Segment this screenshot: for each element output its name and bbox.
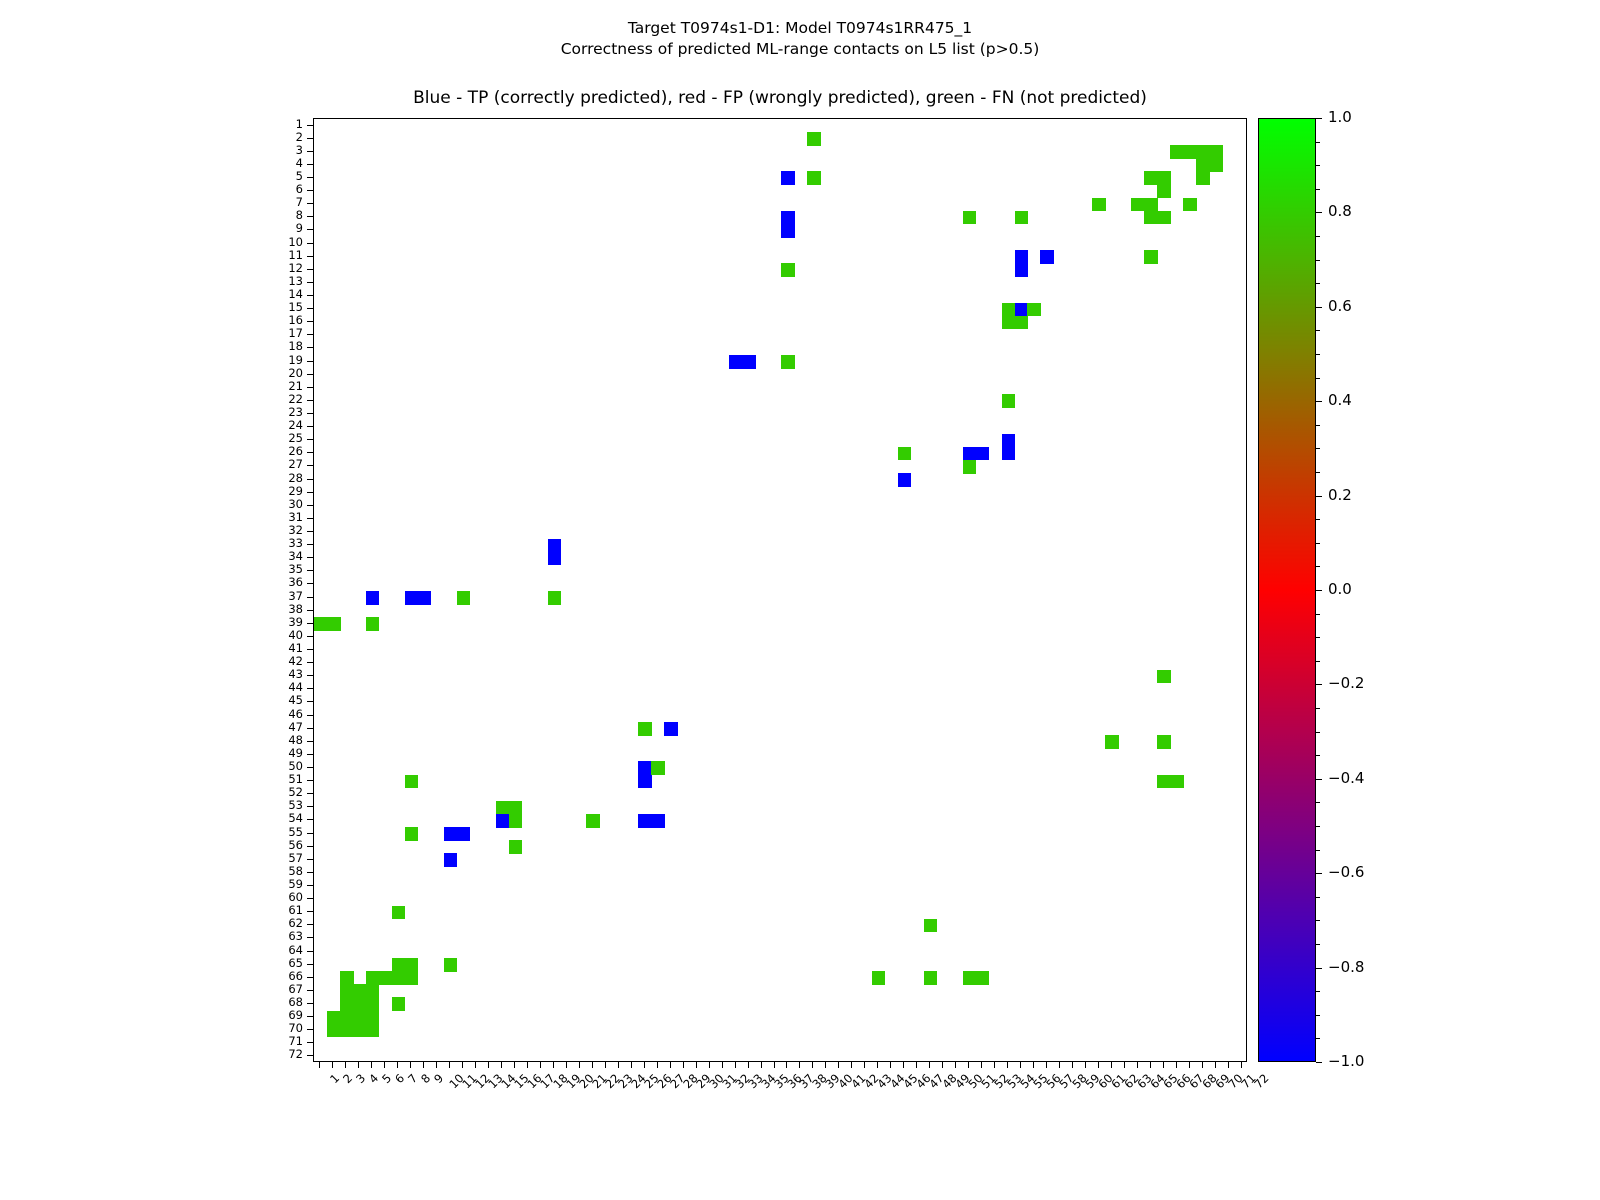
x-axis-tick-mark xyxy=(812,1062,813,1068)
heatmap-cell xyxy=(1015,303,1029,317)
y-axis-tick-label: 38 xyxy=(263,604,303,615)
heatmap-cell xyxy=(898,473,912,487)
x-axis-tick-label: 9 xyxy=(431,1071,446,1086)
y-axis-tick-label: 20 xyxy=(263,368,303,379)
heatmap-cell xyxy=(976,971,990,985)
colorbar-minor-tick xyxy=(1316,897,1320,898)
y-axis-tick-mark xyxy=(307,780,313,781)
heatmap-cell xyxy=(1002,316,1016,330)
y-axis-tick-label: 8 xyxy=(263,210,303,221)
colorbar-tick-mark xyxy=(1316,307,1322,308)
heatmap-cell xyxy=(405,775,419,789)
heatmap-cell xyxy=(392,997,406,1011)
colorbar-tick-label: 0.8 xyxy=(1328,205,1352,217)
y-axis-tick-mark xyxy=(307,990,313,991)
y-axis-tick-mark xyxy=(307,846,313,847)
x-axis-tick-mark xyxy=(332,1062,333,1068)
heatmap-cell xyxy=(1015,250,1029,264)
y-axis-tick-mark xyxy=(307,662,313,663)
heatmap-cell xyxy=(327,617,341,631)
heatmap-cell xyxy=(366,591,380,605)
heatmap-cell xyxy=(353,1024,367,1038)
x-axis-tick-mark xyxy=(397,1062,398,1068)
colorbar-minor-tick xyxy=(1316,826,1320,827)
x-axis-tick-mark xyxy=(423,1062,424,1068)
x-axis-tick-label: 8 xyxy=(418,1071,433,1086)
y-axis-tick-mark xyxy=(307,413,313,414)
y-axis-tick-mark xyxy=(307,125,313,126)
heatmap-cell xyxy=(418,591,432,605)
colorbar-minor-tick xyxy=(1316,165,1320,166)
heatmap-cell xyxy=(1157,735,1171,749)
colorbar[interactable] xyxy=(1258,118,1316,1062)
x-axis-tick-mark xyxy=(786,1062,787,1068)
x-axis-tick-mark xyxy=(579,1062,580,1068)
y-axis-tick-label: 40 xyxy=(263,630,303,641)
y-axis-tick-mark xyxy=(307,256,313,257)
colorbar-minor-tick xyxy=(1316,944,1320,945)
heatmap-cell xyxy=(366,1011,380,1025)
heatmap-cell xyxy=(651,814,665,828)
y-axis-tick-label: 17 xyxy=(263,328,303,339)
y-axis-tick-mark xyxy=(307,911,313,912)
heatmap-cell xyxy=(509,814,523,828)
y-axis-tick-label: 65 xyxy=(263,958,303,969)
heatmap-cell xyxy=(457,591,471,605)
y-axis-tick-label: 32 xyxy=(263,525,303,536)
y-axis-tick-label: 31 xyxy=(263,512,303,523)
x-axis-tick-mark xyxy=(683,1062,684,1068)
y-axis-tick-label: 23 xyxy=(263,407,303,418)
y-axis-tick-label: 44 xyxy=(263,682,303,693)
y-axis-tick-mark xyxy=(307,308,313,309)
y-axis-tick-mark xyxy=(307,505,313,506)
y-axis-tick-label: 69 xyxy=(263,1010,303,1021)
x-axis-tick-label: 2 xyxy=(341,1071,356,1086)
heatmap-cell xyxy=(1015,263,1029,277)
y-axis-tick-mark xyxy=(307,898,313,899)
x-axis-tick-mark xyxy=(488,1062,489,1068)
y-axis-tick-label: 54 xyxy=(263,813,303,824)
x-axis-tick-label: 7 xyxy=(405,1071,420,1086)
x-axis-tick-mark xyxy=(722,1062,723,1068)
y-axis-tick-label: 42 xyxy=(263,656,303,667)
x-axis-tick-mark xyxy=(981,1062,982,1068)
heatmap-cell xyxy=(638,722,652,736)
y-axis-tick-mark xyxy=(307,1042,313,1043)
x-axis-tick-mark xyxy=(371,1062,372,1068)
colorbar-tick-label: 0.0 xyxy=(1328,583,1352,595)
colorbar-tick-mark xyxy=(1316,118,1322,119)
axes-title: Blue - TP (correctly predicted), red - F… xyxy=(313,88,1247,108)
x-axis-tick-mark xyxy=(864,1062,865,1068)
colorbar-tick-label: −1.0 xyxy=(1328,1055,1364,1067)
heatmap-cell xyxy=(457,827,471,841)
y-axis-tick-mark xyxy=(307,924,313,925)
colorbar-tick-mark xyxy=(1316,212,1322,213)
heatmap-cell xyxy=(924,971,938,985)
colorbar-minor-tick xyxy=(1316,661,1320,662)
colorbar-tick-mark xyxy=(1316,590,1322,591)
heatmap-cell xyxy=(1144,198,1158,212)
y-axis-tick-mark xyxy=(307,793,313,794)
heatmap-cell xyxy=(353,984,367,998)
y-axis-tick-mark xyxy=(307,452,313,453)
heatmap-cell xyxy=(405,591,419,605)
x-axis-tick-mark xyxy=(501,1062,502,1068)
x-axis-tick-mark xyxy=(553,1062,554,1068)
y-axis-tick-label: 37 xyxy=(263,591,303,602)
y-axis-tick-mark xyxy=(307,387,313,388)
x-axis-tick-mark xyxy=(1241,1062,1242,1068)
colorbar-minor-tick xyxy=(1316,1038,1320,1039)
y-axis-tick-mark xyxy=(307,269,313,270)
x-axis-tick-label: 6 xyxy=(392,1071,407,1086)
y-axis-tick-mark xyxy=(307,295,313,296)
heatmap-cell xyxy=(340,971,354,985)
x-axis-tick-mark xyxy=(1085,1062,1086,1068)
y-axis-tick-mark xyxy=(307,1016,313,1017)
colorbar-tick-mark xyxy=(1316,968,1322,969)
heatmap-cell xyxy=(353,1011,367,1025)
colorbar-minor-tick xyxy=(1316,850,1320,851)
colorbar-minor-tick xyxy=(1316,354,1320,355)
y-axis-tick-label: 70 xyxy=(263,1023,303,1034)
y-axis-tick-mark xyxy=(307,597,313,598)
heatmap-cell xyxy=(1015,211,1029,225)
x-axis-tick-mark xyxy=(657,1062,658,1068)
x-axis-tick-mark xyxy=(1189,1062,1190,1068)
y-axis-tick-label: 72 xyxy=(263,1049,303,1060)
y-axis-tick-mark xyxy=(307,216,313,217)
colorbar-minor-tick xyxy=(1316,378,1320,379)
heatmap-cell xyxy=(366,997,380,1011)
x-axis-tick-mark xyxy=(709,1062,710,1068)
heatmap-cell xyxy=(405,827,419,841)
heatmap-cell xyxy=(781,224,795,238)
y-axis-tick-mark xyxy=(307,623,313,624)
y-axis-tick-label: 56 xyxy=(263,840,303,851)
x-axis-tick-mark xyxy=(1215,1062,1216,1068)
y-axis-tick-mark xyxy=(307,767,313,768)
x-axis-tick-mark xyxy=(994,1062,995,1068)
colorbar-tick-label: −0.8 xyxy=(1328,961,1364,973)
y-axis-tick-label: 68 xyxy=(263,997,303,1008)
y-axis-tick-mark xyxy=(307,439,313,440)
x-axis-tick-mark xyxy=(1163,1062,1164,1068)
x-axis-tick-mark xyxy=(1137,1062,1138,1068)
y-axis-tick-label: 55 xyxy=(263,827,303,838)
y-axis-tick-mark xyxy=(307,190,313,191)
colorbar-minor-tick xyxy=(1316,543,1320,544)
x-axis-tick-label: 72 xyxy=(1251,1071,1271,1091)
colorbar-minor-tick xyxy=(1316,260,1320,261)
colorbar-minor-tick xyxy=(1316,496,1320,497)
colorbar-minor-tick xyxy=(1316,637,1320,638)
y-axis-tick-mark xyxy=(307,688,313,689)
x-axis-tick-mark xyxy=(903,1062,904,1068)
heatmap-cell xyxy=(729,355,743,369)
colorbar-minor-tick xyxy=(1316,330,1320,331)
x-axis-tick-mark xyxy=(799,1062,800,1068)
x-axis-tick-mark xyxy=(527,1062,528,1068)
heatmap-cell xyxy=(1105,735,1119,749)
x-axis-tick-mark xyxy=(449,1062,450,1068)
x-axis-tick-mark xyxy=(1033,1062,1034,1068)
y-axis-tick-mark xyxy=(307,610,313,611)
y-axis-tick-mark xyxy=(307,859,313,860)
heatmap-cell xyxy=(963,447,977,461)
y-axis-tick-label: 52 xyxy=(263,787,303,798)
heatmap-cell xyxy=(586,814,600,828)
y-axis-tick-label: 7 xyxy=(263,197,303,208)
x-axis-tick-mark xyxy=(540,1062,541,1068)
y-axis-tick-mark xyxy=(307,675,313,676)
heatmap-cell xyxy=(340,1024,354,1038)
y-axis-tick-label: 43 xyxy=(263,669,303,680)
heatmap-cell xyxy=(327,1011,341,1025)
y-axis-tick-label: 21 xyxy=(263,381,303,392)
heatmap-cell xyxy=(898,447,912,461)
colorbar-minor-tick xyxy=(1316,519,1320,520)
x-axis-tick-mark xyxy=(838,1062,839,1068)
figure-suptitle: Target T0974s1-D1: Model T0974s1RR475_1C… xyxy=(0,18,1600,60)
heatmap-cell xyxy=(548,552,562,566)
colorbar-tick-label: 0.4 xyxy=(1328,394,1352,406)
heatmap-cell xyxy=(781,263,795,277)
x-axis-tick-mark xyxy=(761,1062,762,1068)
heatmap-cell xyxy=(1196,158,1210,172)
heatmap-cell xyxy=(638,761,652,775)
heatmap-cell xyxy=(1209,145,1223,159)
y-axis-tick-mark xyxy=(307,833,313,834)
x-axis-tick-mark xyxy=(1228,1062,1229,1068)
heatmap-cell xyxy=(872,971,886,985)
x-axis-tick-mark xyxy=(1111,1062,1112,1068)
heatmap-cell xyxy=(1196,145,1210,159)
heatmap-cell xyxy=(405,958,419,972)
x-axis-tick-mark xyxy=(1072,1062,1073,1068)
x-axis-tick-mark xyxy=(774,1062,775,1068)
y-axis-tick-label: 9 xyxy=(263,223,303,234)
colorbar-minor-tick xyxy=(1316,566,1320,567)
heatmap-cell xyxy=(963,460,977,474)
y-axis-tick-label: 29 xyxy=(263,486,303,497)
y-axis-tick-mark xyxy=(307,570,313,571)
heatmap-cell xyxy=(340,1011,354,1025)
heatmap-cell xyxy=(444,958,458,972)
y-axis-tick-label: 5 xyxy=(263,171,303,182)
y-axis-tick-label: 6 xyxy=(263,184,303,195)
heatmap-cell xyxy=(1092,198,1106,212)
x-axis-tick-label: 1 xyxy=(328,1071,343,1086)
heatmap-cell xyxy=(366,971,380,985)
x-axis-tick-label: 4 xyxy=(367,1071,382,1086)
y-axis-tick-label: 27 xyxy=(263,459,303,470)
colorbar-tick-mark xyxy=(1316,1062,1322,1063)
heatmap-cell xyxy=(340,984,354,998)
heatmap-cell xyxy=(366,984,380,998)
y-axis-tick-mark xyxy=(307,1003,313,1004)
colorbar-minor-tick xyxy=(1316,802,1320,803)
y-axis-tick-label: 58 xyxy=(263,866,303,877)
heatmap-cell xyxy=(963,211,977,225)
heatmap-cell xyxy=(366,617,380,631)
y-axis-tick-mark xyxy=(307,518,313,519)
y-axis-tick-label: 1 xyxy=(263,119,303,130)
y-axis-tick-label: 18 xyxy=(263,341,303,352)
colorbar-minor-tick xyxy=(1316,991,1320,992)
heatmap-cell xyxy=(1015,316,1029,330)
y-axis-tick-label: 47 xyxy=(263,722,303,733)
y-axis-tick-mark xyxy=(307,649,313,650)
heatmap-cell xyxy=(1131,198,1145,212)
heatmap-cell xyxy=(638,814,652,828)
colorbar-tick-label: −0.6 xyxy=(1328,866,1364,878)
colorbar-minor-tick xyxy=(1316,1015,1320,1016)
heatmap-cell xyxy=(1170,145,1184,159)
y-axis-tick-label: 35 xyxy=(263,564,303,575)
heatmap-cell xyxy=(1002,303,1016,317)
y-axis-tick-label: 62 xyxy=(263,918,303,929)
x-axis-tick-mark xyxy=(1176,1062,1177,1068)
y-axis-tick-label: 22 xyxy=(263,394,303,405)
x-axis-tick-mark xyxy=(475,1062,476,1068)
y-axis-tick-label: 28 xyxy=(263,473,303,484)
y-axis-tick-label: 25 xyxy=(263,433,303,444)
heatmap-cell xyxy=(781,355,795,369)
heatmap-cell xyxy=(651,761,665,775)
y-axis-tick-mark xyxy=(307,741,313,742)
heatmap-cell xyxy=(781,211,795,225)
x-axis-tick-mark xyxy=(890,1062,891,1068)
y-axis-tick-label: 63 xyxy=(263,931,303,942)
y-axis-tick-mark xyxy=(307,819,313,820)
y-axis-tick-label: 26 xyxy=(263,446,303,457)
y-axis-tick-mark xyxy=(307,754,313,755)
contact-map-heatmap[interactable] xyxy=(313,118,1247,1062)
x-axis-tick-mark xyxy=(436,1062,437,1068)
x-axis-tick-label: 5 xyxy=(380,1071,395,1086)
x-axis-tick-mark xyxy=(462,1062,463,1068)
heatmap-cell xyxy=(548,539,562,553)
y-axis-tick-label: 14 xyxy=(263,289,303,300)
heatmap-cell xyxy=(405,971,419,985)
y-axis-tick-label: 57 xyxy=(263,853,303,864)
figure-root: Target T0974s1-D1: Model T0974s1RR475_1C… xyxy=(0,0,1600,1200)
heatmap-cell xyxy=(807,171,821,185)
heatmap-cell xyxy=(548,591,562,605)
heatmap-cell xyxy=(1157,670,1171,684)
y-axis-tick-mark xyxy=(307,885,313,886)
x-axis-tick-mark xyxy=(514,1062,515,1068)
heatmap-cell xyxy=(366,1024,380,1038)
y-axis-tick-label: 33 xyxy=(263,538,303,549)
y-axis-tick-mark xyxy=(307,1055,313,1056)
x-axis-tick-mark xyxy=(1202,1062,1203,1068)
heatmap-cell xyxy=(963,971,977,985)
y-axis-tick-label: 11 xyxy=(263,250,303,261)
x-axis-tick-mark xyxy=(825,1062,826,1068)
x-axis-tick-mark xyxy=(1098,1062,1099,1068)
x-axis-tick-mark xyxy=(1124,1062,1125,1068)
heatmap-cell xyxy=(924,919,938,933)
colorbar-tick-label: −0.4 xyxy=(1328,772,1364,784)
suptitle-line-2: Correctness of predicted ML-range contac… xyxy=(561,40,1040,58)
y-axis-tick-mark xyxy=(307,321,313,322)
x-axis-tick-mark xyxy=(851,1062,852,1068)
heatmap-cell xyxy=(392,971,406,985)
heatmap-cell xyxy=(1157,185,1171,199)
heatmap-cell xyxy=(509,801,523,815)
y-axis-tick-mark xyxy=(307,715,313,716)
heatmap-cell xyxy=(1144,250,1158,264)
heatmap-cell xyxy=(1183,198,1197,212)
y-axis-tick-mark xyxy=(307,1029,313,1030)
y-axis-tick-label: 13 xyxy=(263,276,303,287)
heatmap-cell xyxy=(1209,158,1223,172)
y-axis-tick-mark xyxy=(307,400,313,401)
y-axis-tick-mark xyxy=(307,177,313,178)
colorbar-minor-tick xyxy=(1316,189,1320,190)
x-axis-tick-mark xyxy=(1007,1062,1008,1068)
y-axis-tick-label: 45 xyxy=(263,695,303,706)
y-axis-tick-label: 30 xyxy=(263,499,303,510)
x-axis-tick-label: 3 xyxy=(354,1071,369,1086)
colorbar-tick-mark xyxy=(1316,873,1322,874)
colorbar-minor-tick xyxy=(1316,472,1320,473)
y-axis-tick-mark xyxy=(307,479,313,480)
colorbar-minor-tick xyxy=(1316,401,1320,402)
y-axis-tick-label: 51 xyxy=(263,774,303,785)
y-axis-tick-label: 12 xyxy=(263,263,303,274)
heatmap-cell xyxy=(1040,250,1054,264)
y-axis-tick-label: 53 xyxy=(263,800,303,811)
y-axis-tick-mark xyxy=(307,164,313,165)
colorbar-minor-tick xyxy=(1316,448,1320,449)
y-axis-tick-mark xyxy=(307,557,313,558)
heatmap-cell xyxy=(1157,211,1171,225)
x-axis-tick-mark xyxy=(1046,1062,1047,1068)
y-axis-tick-mark xyxy=(307,374,313,375)
heatmap-cell xyxy=(1002,394,1016,408)
y-axis-tick-label: 39 xyxy=(263,617,303,628)
colorbar-tick-label: −0.2 xyxy=(1328,677,1364,689)
x-axis-tick-mark xyxy=(929,1062,930,1068)
y-axis-tick-label: 3 xyxy=(263,145,303,156)
y-axis-tick-mark xyxy=(307,636,313,637)
y-axis-tick-mark xyxy=(307,334,313,335)
y-axis-tick-mark xyxy=(307,426,313,427)
heatmap-cell xyxy=(496,801,510,815)
colorbar-tick-label: 1.0 xyxy=(1328,111,1352,123)
y-axis-tick-mark xyxy=(307,347,313,348)
y-axis-tick-mark xyxy=(307,872,313,873)
heatmap-cell xyxy=(638,775,652,789)
y-axis-tick-label: 48 xyxy=(263,735,303,746)
y-axis-tick-label: 61 xyxy=(263,905,303,916)
y-axis-tick-label: 46 xyxy=(263,709,303,720)
x-axis-tick-mark xyxy=(670,1062,671,1068)
x-axis-tick-mark xyxy=(968,1062,969,1068)
x-axis-tick-mark xyxy=(955,1062,956,1068)
x-axis-tick-mark xyxy=(1059,1062,1060,1068)
heatmap-cell xyxy=(1002,434,1016,448)
y-axis-tick-mark xyxy=(307,138,313,139)
y-axis-tick-mark xyxy=(307,282,313,283)
y-axis-tick-label: 67 xyxy=(263,984,303,995)
y-axis-tick-label: 41 xyxy=(263,643,303,654)
